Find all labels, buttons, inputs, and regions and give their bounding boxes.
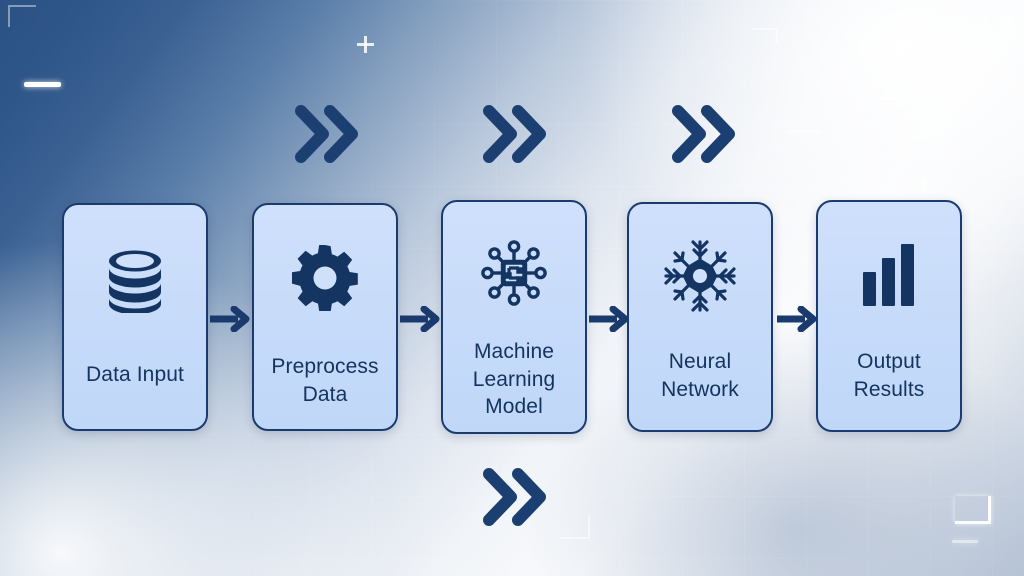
pipeline-step-data-input[interactable]: Data Input (62, 203, 208, 431)
label-line: Output (854, 348, 925, 376)
diagram-canvas: Data Input Preprocess Data (0, 0, 1024, 576)
flow-arrow-1 (210, 306, 252, 332)
flow-arrow-2 (400, 306, 442, 332)
pipeline-step-output[interactable]: Output Results (816, 200, 962, 432)
label-line: Preprocess (271, 353, 378, 381)
pipeline-step-label: Machine Learning Model (467, 338, 562, 421)
pipeline-step-label: Neural Network (655, 348, 745, 403)
pipeline-step-label: Preprocess Data (265, 353, 384, 408)
gear-icon (292, 245, 358, 311)
label-line: Data (271, 381, 378, 409)
bar-chart-icon (859, 242, 919, 306)
pipeline-step-ml-model[interactable]: Machine Learning Model (441, 200, 587, 434)
label-line: Results (854, 376, 925, 404)
pipeline-step-label: Output Results (848, 348, 931, 403)
pipeline-step-label: Data Input (80, 361, 190, 389)
pipeline-step-preprocess[interactable]: Preprocess Data (252, 203, 398, 431)
label-line: Machine (473, 338, 556, 366)
flow-arrow-4 (777, 306, 819, 332)
chevron-bottom-1 (482, 466, 548, 528)
neuron-icon (660, 236, 740, 316)
label-line: Neural (661, 348, 739, 376)
flow-arrow-3 (589, 306, 631, 332)
chevron-top-3 (671, 103, 737, 165)
label-line: Model (473, 393, 556, 421)
pipeline-step-neural-network[interactable]: Neural Network (627, 202, 773, 432)
ai-chip-icon (475, 234, 553, 312)
label-line: Data Input (86, 363, 184, 386)
database-icon (104, 249, 166, 313)
chevron-top-2 (482, 103, 548, 165)
chevron-top-1 (294, 103, 360, 165)
label-line: Learning (473, 366, 556, 394)
label-line: Network (661, 376, 739, 404)
